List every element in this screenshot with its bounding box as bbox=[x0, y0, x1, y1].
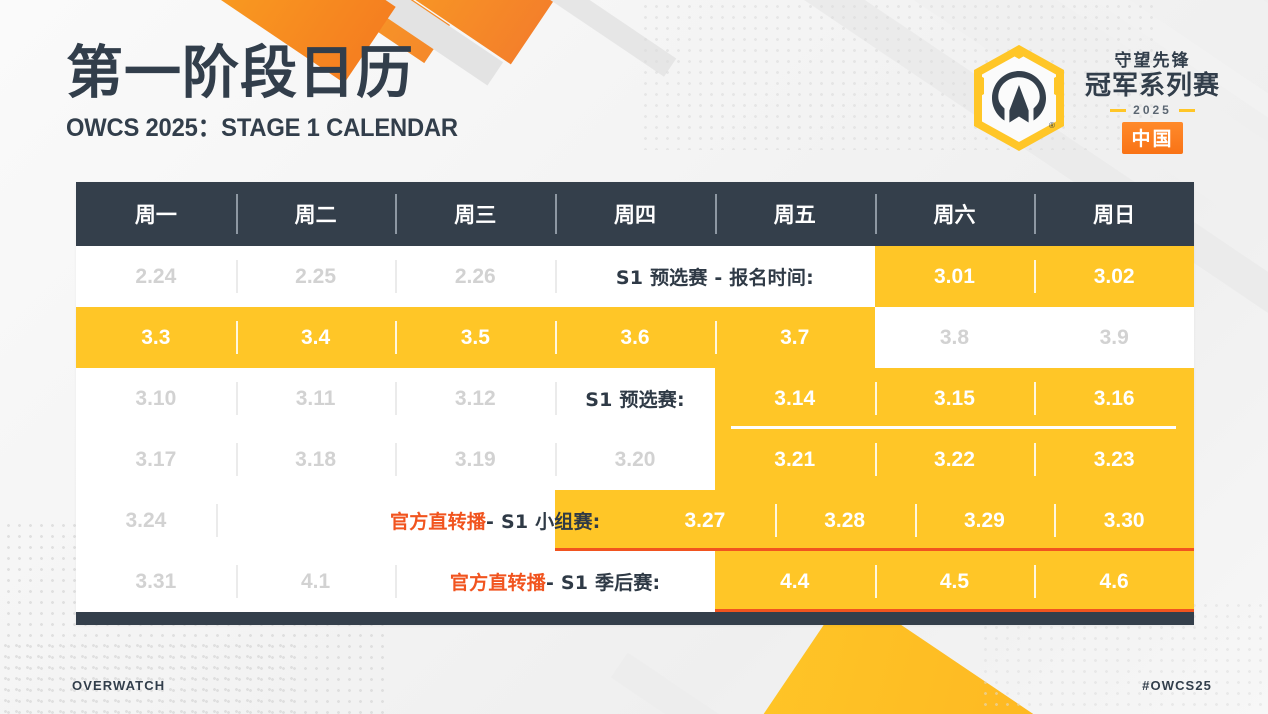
event-label-cell-broadcast: 官方直转播 - S1 小组赛: bbox=[356, 490, 636, 551]
column-header-sunday: 周日 bbox=[1034, 182, 1194, 246]
calendar-row: 3.17 3.18 3.19 3.20 3.21 3.22 3.23 bbox=[76, 429, 1194, 490]
date-cell[interactable]: 3.02 bbox=[1034, 246, 1194, 307]
date-cell[interactable]: 3.17 bbox=[76, 429, 236, 490]
column-header-monday: 周一 bbox=[76, 182, 236, 246]
date-cell[interactable]: 3.01 bbox=[875, 246, 1035, 307]
date-cell[interactable]: 3.21 bbox=[715, 429, 875, 490]
footer-hashtag: #OWCS25 bbox=[1142, 678, 1212, 693]
date-cell[interactable]: 3.24 bbox=[76, 490, 216, 551]
logo-year-row: 2025 bbox=[1110, 103, 1195, 117]
overwatch-logo-icon: ® bbox=[967, 42, 1071, 154]
date-cell[interactable]: 3.4 bbox=[236, 307, 396, 368]
calendar-row: 2.24 2.25 2.26 S1 预选赛 - 报名时间: 3.01 3.02 bbox=[76, 246, 1194, 307]
date-cell[interactable]: 3.6 bbox=[555, 307, 715, 368]
date-cell[interactable]: 2.25 bbox=[236, 246, 396, 307]
calendar-row: 3.3 3.4 3.5 3.6 3.7 3.8 3.9 bbox=[76, 307, 1194, 368]
broadcast-label-text: - S1 小组赛: bbox=[486, 507, 600, 534]
date-cell[interactable]: 3.10 bbox=[76, 368, 236, 429]
logo-wordmark: 守望先锋 冠军系列赛 2025 中国 bbox=[1085, 42, 1220, 154]
date-cell[interactable]: 3.31 bbox=[76, 551, 236, 612]
calendar-header-row: 周一 周二 周三 周四 周五 周六 周日 bbox=[76, 182, 1194, 246]
date-cell[interactable]: 3.16 bbox=[1034, 368, 1194, 429]
date-cell[interactable]: 3.28 bbox=[775, 490, 915, 551]
calendar-table: 周一 周二 周三 周四 周五 周六 周日 2.24 2.25 2.26 S1 预… bbox=[76, 182, 1194, 625]
date-cell[interactable]: 3.18 bbox=[236, 429, 396, 490]
column-header-thursday: 周四 bbox=[555, 182, 715, 246]
empty-cell bbox=[216, 490, 356, 551]
broadcast-accent-text: 官方直转播 bbox=[450, 568, 546, 595]
column-header-friday: 周五 bbox=[715, 182, 875, 246]
event-label-cell: S1 预选赛: bbox=[555, 368, 715, 429]
date-cell[interactable]: 3.3 bbox=[76, 307, 236, 368]
calendar-footer-bar bbox=[76, 612, 1194, 625]
logo-line-champions-series: 冠军系列赛 bbox=[1085, 72, 1220, 100]
date-cell[interactable]: 4.6 bbox=[1034, 551, 1194, 612]
svg-text:®: ® bbox=[1049, 121, 1055, 130]
date-cell[interactable]: 4.5 bbox=[875, 551, 1035, 612]
logo-dash-left bbox=[1110, 109, 1126, 112]
date-cell[interactable]: 3.14 bbox=[715, 368, 875, 429]
date-cell[interactable]: 3.9 bbox=[1034, 307, 1194, 368]
page-header: 第一阶段日历 OWCS 2025：STAGE 1 CALENDAR ® 守望先锋… bbox=[0, 0, 1268, 176]
date-cell[interactable]: 3.11 bbox=[236, 368, 396, 429]
calendar-row: 3.10 3.11 3.12 S1 预选赛: 3.14 3.15 3.16 bbox=[76, 368, 1194, 429]
broadcast-underline-rule bbox=[555, 548, 1194, 551]
logo-dash-right bbox=[1179, 109, 1195, 112]
date-cell[interactable]: 3.15 bbox=[875, 368, 1035, 429]
date-cell[interactable]: 3.5 bbox=[395, 307, 555, 368]
date-cell[interactable]: 4.4 bbox=[715, 551, 875, 612]
page-title: 第一阶段日历 bbox=[66, 44, 478, 102]
logo-region-badge: 中国 bbox=[1122, 122, 1182, 154]
page-subtitle: OWCS 2025：STAGE 1 CALENDAR bbox=[66, 108, 458, 144]
event-label-cell: S1 预选赛 - 报名时间: bbox=[555, 246, 874, 307]
date-cell[interactable]: 3.20 bbox=[555, 429, 715, 490]
date-cell[interactable]: 3.19 bbox=[395, 429, 555, 490]
broadcast-label-text: - S1 季后赛: bbox=[546, 568, 660, 595]
bg-halftone-dots bbox=[0, 640, 300, 714]
column-header-wednesday: 周三 bbox=[395, 182, 555, 246]
broadcast-accent-text: 官方直转播 bbox=[390, 507, 486, 534]
logo-year: 2025 bbox=[1133, 103, 1172, 117]
date-cell[interactable]: 3.29 bbox=[915, 490, 1055, 551]
date-cell[interactable]: 4.1 bbox=[236, 551, 396, 612]
broadcast-underline-rule bbox=[715, 609, 1194, 612]
footer-brand: OVERWATCH bbox=[72, 678, 165, 693]
calendar-row: 3.24 官方直转播 - S1 小组赛: 3.27 3.28 3.29 3.30 bbox=[76, 490, 1194, 551]
logo-line-overwatch: 守望先锋 bbox=[1114, 46, 1190, 71]
week-group-rule bbox=[731, 426, 1176, 429]
column-header-tuesday: 周二 bbox=[236, 182, 396, 246]
date-cell[interactable]: 3.22 bbox=[875, 429, 1035, 490]
date-cell[interactable]: 3.30 bbox=[1054, 490, 1194, 551]
date-cell[interactable]: 3.8 bbox=[875, 307, 1035, 368]
logo-cluster: ® 守望先锋 冠军系列赛 2025 中国 bbox=[967, 42, 1220, 154]
column-header-saturday: 周六 bbox=[875, 182, 1035, 246]
date-cell[interactable]: 3.23 bbox=[1034, 429, 1194, 490]
date-cell[interactable]: 3.12 bbox=[395, 368, 555, 429]
event-label-cell-broadcast: 官方直转播 - S1 季后赛: bbox=[395, 551, 714, 612]
date-cell[interactable]: 3.27 bbox=[635, 490, 775, 551]
calendar-row: 3.31 4.1 官方直转播 - S1 季后赛: 4.4 4.5 4.6 bbox=[76, 551, 1194, 612]
date-cell[interactable]: 2.26 bbox=[395, 246, 555, 307]
date-cell[interactable]: 2.24 bbox=[76, 246, 236, 307]
title-block: 第一阶段日历 OWCS 2025：STAGE 1 CALENDAR bbox=[66, 44, 478, 144]
date-cell[interactable]: 3.7 bbox=[715, 307, 875, 368]
